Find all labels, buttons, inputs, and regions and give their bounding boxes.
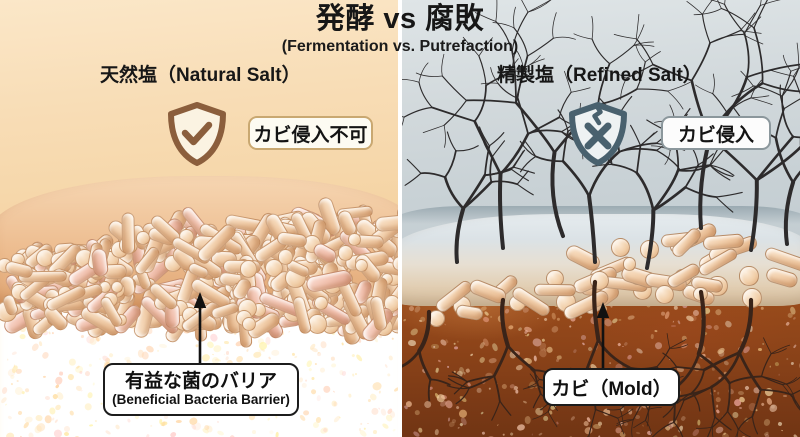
soil-speck bbox=[414, 410, 419, 415]
soil-speck bbox=[408, 339, 416, 346]
bacterium bbox=[534, 283, 576, 296]
soil-speck bbox=[525, 416, 531, 424]
soil-speck bbox=[457, 426, 459, 428]
bacterium bbox=[590, 271, 609, 290]
soil-speck bbox=[717, 392, 719, 395]
shield-cracked-x-icon bbox=[566, 101, 630, 172]
bacterium bbox=[640, 240, 659, 259]
bacterium bbox=[428, 310, 445, 327]
soil-speck bbox=[454, 346, 458, 350]
bacterium bbox=[242, 317, 256, 331]
soil-speck bbox=[341, 342, 344, 346]
shield-check-icon bbox=[166, 102, 228, 171]
soil-speck bbox=[642, 424, 644, 426]
soil-speck bbox=[7, 359, 8, 361]
soil-speck bbox=[706, 324, 713, 329]
left-badge-pill[interactable]: カビ侵入不可 bbox=[248, 116, 373, 150]
right-callout-arrow-icon bbox=[596, 302, 610, 374]
soil-speck bbox=[716, 405, 718, 408]
right-callout-box: カビ（Mold） bbox=[543, 368, 680, 406]
bacterium bbox=[308, 314, 328, 334]
right-panel-heading: 精製塩（Refined Salt） bbox=[497, 60, 702, 87]
left-callout-arrow-icon bbox=[193, 292, 207, 370]
bacterium bbox=[240, 260, 257, 277]
soil-speck bbox=[274, 416, 277, 419]
soil-speck bbox=[270, 350, 279, 356]
soil-speck bbox=[477, 387, 482, 392]
soil-speck bbox=[150, 424, 153, 427]
panel-divider bbox=[398, 0, 402, 437]
soil-speck bbox=[434, 429, 439, 435]
left-callout-line1: 有益な菌のバリア bbox=[125, 372, 277, 392]
soil-speck bbox=[98, 358, 100, 360]
soil-speck bbox=[780, 429, 782, 431]
bacterium bbox=[121, 212, 135, 255]
bacterium bbox=[623, 257, 637, 271]
bacterium bbox=[739, 266, 758, 285]
soil-speck bbox=[739, 407, 742, 410]
soil-speck bbox=[618, 319, 622, 321]
soil-speck bbox=[580, 335, 586, 340]
soil-speck bbox=[485, 372, 493, 377]
left-panel-heading: 天然塩（Natural Salt） bbox=[100, 60, 301, 87]
bacterium bbox=[348, 233, 360, 245]
soil-speck bbox=[515, 390, 518, 394]
soil-speck bbox=[769, 365, 771, 367]
soil-speck bbox=[693, 363, 700, 371]
right-badge-pill[interactable]: カビ侵入 bbox=[661, 116, 771, 150]
bacterium bbox=[742, 288, 762, 308]
soil-speck bbox=[635, 415, 640, 419]
page-title: 発酵 vs 腐敗 bbox=[0, 4, 800, 36]
soil-speck bbox=[651, 334, 654, 339]
bacterium bbox=[355, 259, 368, 272]
soil-speck bbox=[226, 351, 229, 355]
soil-speck bbox=[406, 401, 413, 407]
soil-speck bbox=[697, 419, 700, 425]
soil-speck bbox=[124, 356, 131, 360]
infographic-canvas: 発酵 vs 腐敗 (Fermentation vs. Putrefaction)… bbox=[0, 0, 800, 437]
soil-speck bbox=[481, 377, 486, 383]
page-subtitle: (Fermentation vs. Putrefaction) bbox=[0, 38, 800, 56]
soil-speck bbox=[541, 338, 545, 342]
left-callout-line2: (Beneficial Bacteria Barrier) bbox=[112, 392, 290, 407]
soil-speck bbox=[367, 423, 369, 424]
soil-speck bbox=[622, 346, 624, 347]
soil-speck bbox=[556, 317, 559, 320]
soil-speck bbox=[714, 389, 716, 391]
right-callout-line1: カビ（Mold） bbox=[551, 374, 671, 401]
soil-speck bbox=[302, 382, 307, 387]
soil-speck bbox=[502, 434, 504, 436]
soil-speck bbox=[453, 371, 455, 373]
soil-speck bbox=[224, 341, 229, 345]
soil-speck bbox=[352, 373, 354, 376]
left-callout-box: 有益な菌のバリア (Beneficial Bacteria Barrier) bbox=[103, 363, 299, 416]
bacterium bbox=[338, 245, 353, 260]
title-block: 発酵 vs 腐敗 (Fermentation vs. Putrefaction) bbox=[0, 4, 800, 56]
